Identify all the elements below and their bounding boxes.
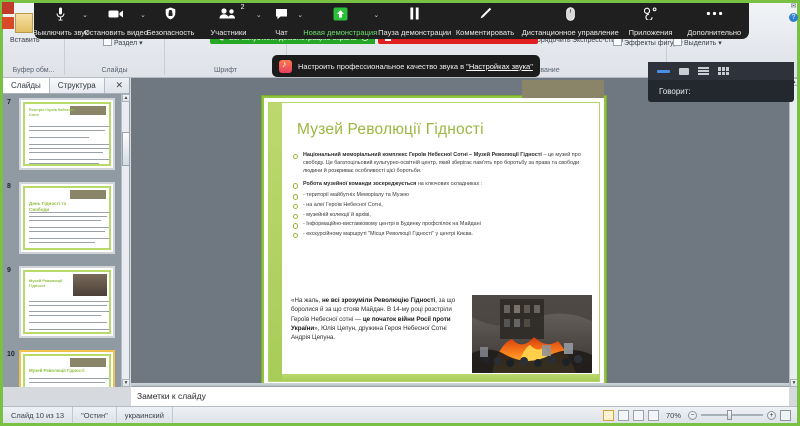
zoom-participants-button[interactable]: 2 ⌄ Участники [196, 3, 261, 39]
zoom-item-label: Безопасность [147, 28, 195, 37]
bullet-text: на ключових складниках : [416, 181, 482, 187]
apps-icon [644, 6, 658, 21]
thumbnail-preview: День Гідності та Свободи [23, 186, 111, 250]
quote-part: », Юлія Цепун, дружина Героя Небесної Со… [291, 325, 447, 341]
theme-name[interactable]: "Остин" [73, 407, 117, 423]
view-layout-controls[interactable] [648, 62, 794, 80]
thumbnail[interactable]: День Гідності та Свободи [19, 182, 115, 254]
pane-tabs: Слайды Структура ✕ [3, 78, 129, 94]
minimize-icon[interactable] [657, 70, 670, 73]
speaking-label: Говорит: [648, 80, 794, 102]
ribbon-group-label-font: Шрифт [165, 67, 286, 74]
shield-icon [165, 6, 176, 21]
quote-part-bold: не всі зрозуміли Революцію Гідності [322, 297, 435, 304]
thumb-header-bar [70, 190, 106, 199]
zoom-item-label: Остановить видео [84, 28, 148, 37]
share-screen-icon [333, 6, 348, 21]
strip-view-icon[interactable] [698, 67, 709, 75]
thumbnail-selected[interactable]: Музей Революції Гідності [19, 350, 115, 387]
zoom-meeting-toolbar[interactable]: ⌄ Выключить звук ⌄ Остановить видео Безо… [34, 3, 749, 39]
zoom-item-label: Чат [275, 28, 287, 37]
zoom-item-label: Участники [211, 28, 247, 37]
zoom-item-label: Выключить звук [33, 28, 88, 37]
bullet-bold-text: Робота музейної команди зосереджується [303, 181, 416, 187]
bullet-text: - на алеї Героїв Небесної Сотні, [303, 202, 383, 208]
thumbnail-preview: Розстріл Героїв Небесної Сотні [23, 102, 111, 166]
zoom-out-button[interactable]: − [688, 411, 697, 420]
zoom-level-label: 70% [666, 411, 681, 420]
photo-graphic [472, 295, 592, 373]
thumbnail-title: Музей Революції Гідності [29, 368, 93, 374]
thumbnail-preview: Музей Революції Гідності [23, 270, 111, 334]
mouse-icon [566, 6, 575, 21]
list-item[interactable]: 10 Музей Революції Гідності [5, 350, 119, 387]
reading-view-button[interactable] [633, 410, 644, 421]
language-indicator[interactable]: украинский [117, 407, 173, 423]
pause-icon [409, 6, 420, 21]
list-item[interactable]: 8 День Гідності та Свободи [5, 182, 119, 259]
zoom-new-share-button[interactable]: ⌄ Новая демонстрация [302, 3, 378, 39]
taskbar-left-icons [0, 0, 34, 36]
bullet-text: - екскурсійному маршруті "Місця Революці… [303, 231, 473, 237]
powerpoint-taskbar-icon[interactable] [2, 2, 14, 14]
zoom-mute-button[interactable]: ⌄ Выключить звук [34, 3, 87, 39]
bullet-item: - музейній колекції й архіві, [291, 211, 599, 219]
zoom-in-button[interactable]: + [767, 411, 776, 420]
bullet-item: Національний меморіальний комплекс Герої… [291, 151, 599, 175]
bullet-text: - території майбутніх Меморіалу та Музею [303, 192, 409, 198]
window-controls: ✉ ? [789, 2, 798, 25]
toast-message: Настроить профессиональное качество звук… [298, 62, 533, 71]
slide-canvas[interactable]: Музей Революції Гідності Національний ме… [268, 102, 600, 382]
thumbnail-number: 7 [7, 99, 11, 106]
thumbnail-photo [73, 274, 107, 296]
ribbon-group-label-slides: Слайды [65, 67, 164, 74]
current-slide[interactable]: Музей Революції Гідності Національний ме… [262, 96, 606, 388]
app-taskbar-icon[interactable] [2, 17, 14, 29]
scroll-down-icon[interactable]: ▼ [122, 379, 130, 387]
zoom-more-button[interactable]: Дополнительно [679, 3, 749, 39]
pencil-icon [479, 6, 492, 21]
slides-pane-scrollbar[interactable]: ▲ ▼ [121, 94, 129, 387]
zoom-item-label: Комментировать [456, 28, 514, 37]
zoom-chat-button[interactable]: ⌄ Чат [261, 3, 302, 39]
zoom-annotate-button[interactable]: Комментировать [451, 3, 519, 39]
quote-part: «На жаль, [291, 297, 322, 304]
participants-icon: 2 [219, 6, 237, 21]
thumbnail-number: 9 [7, 267, 11, 274]
slide-bottom-accent-bar [282, 374, 599, 381]
zoom-security-button[interactable]: Безопасность [145, 3, 196, 39]
participants-count-badge: 2 [241, 4, 245, 11]
notes-pane[interactable]: Заметки к слайду [131, 386, 789, 406]
slide-sorter-view-button[interactable] [618, 410, 629, 421]
thumbnail[interactable]: Музей Революції Гідності [19, 266, 115, 338]
thumbnail-number: 8 [7, 183, 11, 190]
slideshow-view-button[interactable] [648, 410, 659, 421]
tab-slides[interactable]: Слайды [3, 78, 50, 93]
zoom-item-label: Приложения [629, 28, 673, 37]
help-icon[interactable]: ? [789, 13, 798, 22]
thumbnail-preview: Музей Революції Гідності [23, 354, 111, 387]
thumbnail[interactable]: Розстріл Героїв Небесної Сотні [19, 98, 115, 170]
bullet-item: - екскурсійному маршруті "Місця Революці… [291, 230, 599, 238]
normal-view-button[interactable] [603, 410, 614, 421]
bullet-bold-text: Національний меморіальний комплекс Герої… [303, 152, 542, 158]
list-item[interactable]: 7 Розстріл Героїв Небесної Сотні [5, 98, 119, 175]
slides-pane: Слайды Структура ✕ 7 Розстріл Героїв Неб… [3, 78, 130, 387]
bullet-text: - музейній колекції й архіві, [303, 212, 371, 218]
zoom-item-label: Новая демонстрация [303, 28, 377, 37]
slide-bullet-list[interactable]: Національний меморіальний комплекс Герої… [291, 151, 599, 239]
bullet-item: - Інформаційно-виставковому центрі в Буд… [291, 220, 599, 228]
status-right-cluster: 70% − + [603, 410, 797, 421]
zoom-item-label: Пауза демонстрации [378, 28, 451, 37]
audio-settings-link[interactable]: "Настройках звука" [466, 62, 533, 71]
thumbnail-number: 10 [7, 351, 15, 358]
thumbnail-list[interactable]: 7 Розстріл Героїв Небесної Сотні [3, 94, 121, 387]
bullet-item: - на алеї Героїв Небесної Сотні, [291, 201, 599, 209]
music-note-icon [279, 60, 292, 73]
list-item[interactable]: 9 Музей Революції Гідності [5, 266, 119, 343]
thumb-header-bar [70, 358, 106, 367]
bullet-item: Робота музейної команди зосереджується н… [291, 180, 599, 188]
scroll-up-icon[interactable]: ▲ [122, 94, 130, 102]
slide-quote-paragraph[interactable]: «На жаль, не всі зрозуміли Революцію Гід… [291, 296, 466, 342]
ellipsis-icon [706, 6, 723, 21]
zoom-pause-share-button[interactable]: Пауза демонстрации [378, 3, 451, 39]
zoom-item-label: Дополнительно [687, 28, 741, 37]
close-pane-icon[interactable]: ✕ [109, 78, 129, 93]
speaker-view-icon[interactable] [679, 68, 689, 75]
zoom-apps-button[interactable]: Приложения [622, 3, 680, 39]
ribbon-group-label-clipboard: Буфер обм... [3, 67, 64, 74]
slide-counter: Слайд 10 из 13 [3, 407, 73, 423]
zoom-remote-control-button[interactable]: Дистанционное управление [519, 3, 622, 39]
speaker-panel[interactable]: Говорит: [648, 62, 794, 102]
minimize-ribbon-icon[interactable]: ✉ [789, 2, 798, 10]
slide-header-box [522, 80, 604, 98]
zoom-slider-knob[interactable] [727, 410, 732, 420]
zoom-item-label: Дистанционное управление [522, 28, 619, 37]
bullet-item: - території майбутніх Меморіалу та Музею [291, 191, 599, 199]
thumbnail-title: Музей Революції Гідності [29, 278, 69, 289]
toast-text: Настроить профессиональное качество звук… [298, 62, 466, 71]
slide-stage: Музей Революції Гідності Національний ме… [131, 78, 789, 387]
microphone-icon [56, 6, 65, 21]
maidan-fire-photo[interactable] [472, 295, 592, 373]
tab-outline[interactable]: Структура [50, 78, 105, 93]
scroll-thumb[interactable] [122, 132, 130, 166]
status-bar: Слайд 10 из 13 "Остин" украинский 70% − … [3, 406, 797, 423]
screen: Вставить Буфер обм... Создать слайд Маке… [0, 0, 800, 426]
fit-to-window-button[interactable] [780, 410, 791, 421]
slide-title[interactable]: Музей Революції Гідності [297, 121, 597, 139]
bullet-text: - Інформаційно-виставковому центрі в Буд… [303, 221, 481, 227]
scroll-down-icon[interactable]: ▼ [790, 379, 797, 387]
zoom-slider[interactable] [701, 414, 763, 416]
main-vertical-scrollbar[interactable]: ▲ ▼ [789, 78, 797, 387]
zoom-stop-video-button[interactable]: ⌄ Остановить видео [87, 3, 145, 39]
gallery-view-icon[interactable] [718, 67, 729, 75]
audio-quality-toast[interactable]: Настроить профессиональное качество звук… [272, 55, 540, 77]
video-camera-icon [108, 6, 124, 21]
slide-left-accent-bar [269, 103, 282, 381]
thumbnail-title: Розстріл Героїв Небесної Сотні [29, 108, 77, 118]
chat-bubble-icon [275, 6, 288, 21]
